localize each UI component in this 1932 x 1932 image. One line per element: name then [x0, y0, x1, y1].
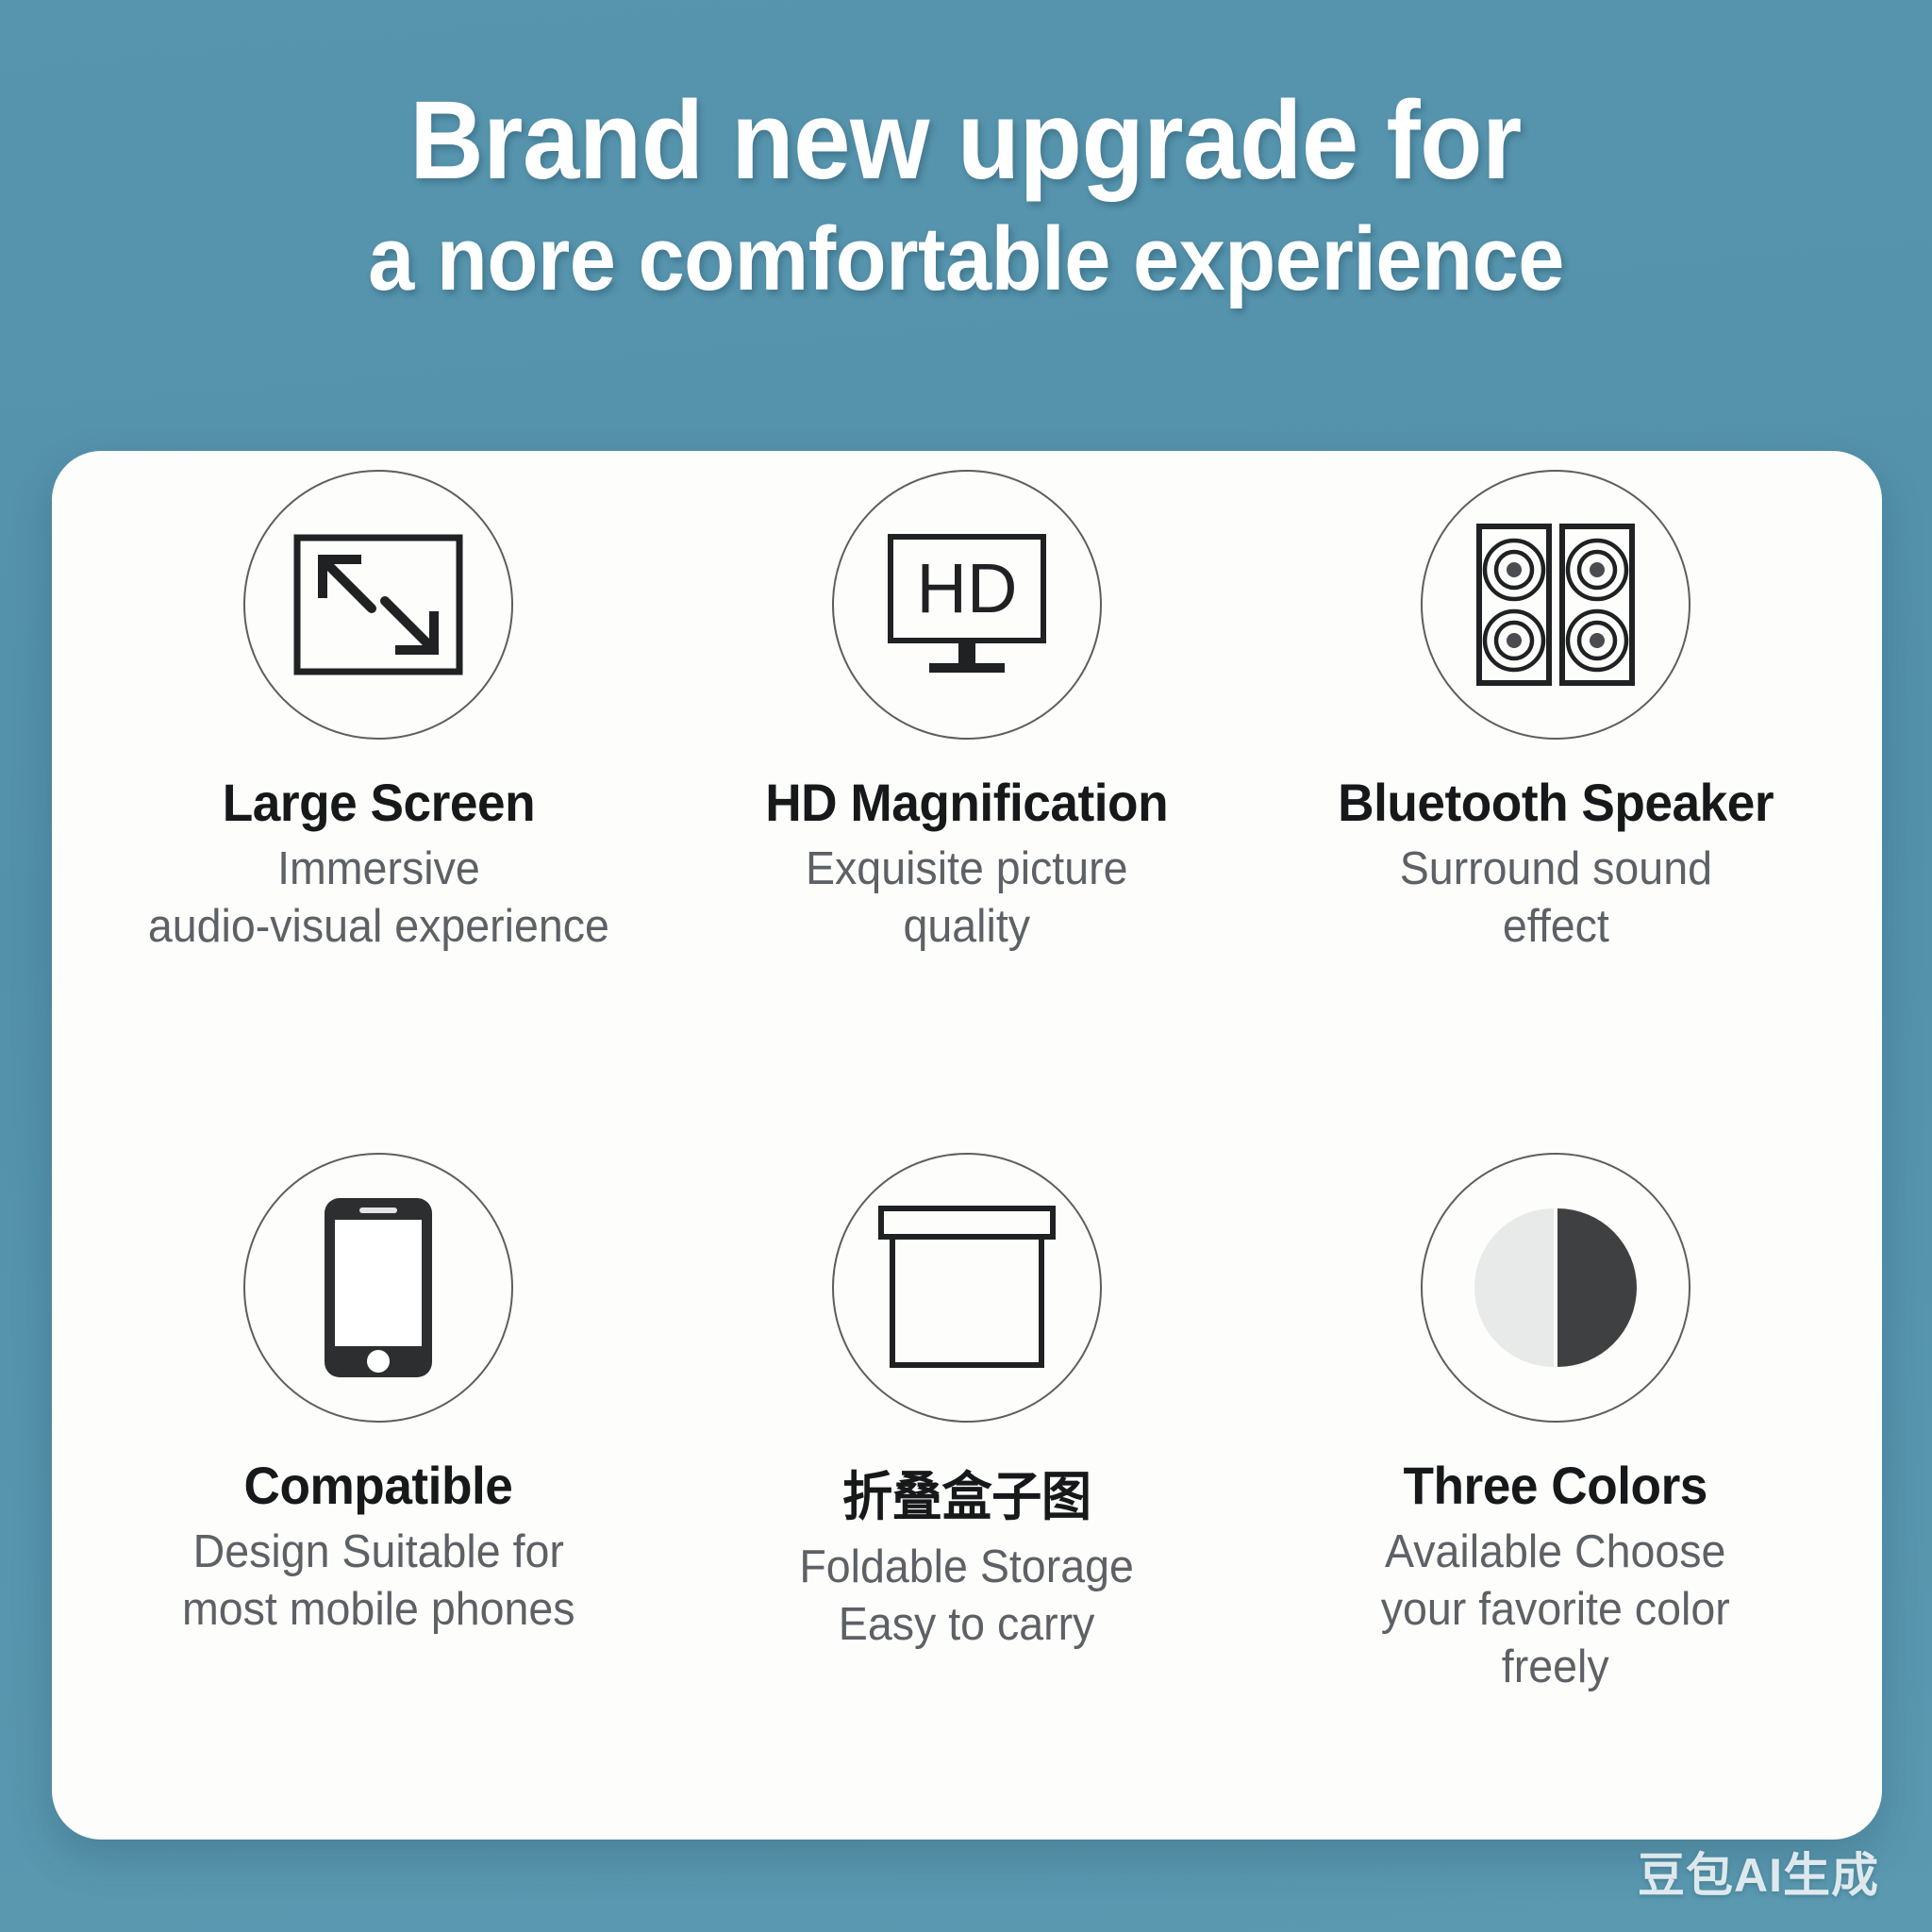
feature-desc-line: Easy to carry [800, 1596, 1135, 1654]
feature-card: Large Screen Immersive audio-visual expe… [52, 451, 1882, 1840]
feature-description: Exquisite picture quality [806, 841, 1128, 956]
feature-large-screen[interactable]: Large Screen Immersive audio-visual expe… [84, 451, 673, 956]
feature-description: Foldable Storage Easy to carry [800, 1539, 1135, 1654]
feature-desc-line: Surround sound [1399, 841, 1711, 898]
feature-desc-line: your favorite color [1381, 1581, 1730, 1639]
feature-desc-line: Design Suitable for [182, 1524, 575, 1581]
screen-resize-icon [243, 470, 513, 740]
feature-description: Design Suitable for most mobile phones [182, 1524, 575, 1639]
feature-title: Compatible [244, 1455, 513, 1516]
hero-header: Brand new upgrade for a nore comfortable… [0, 0, 1932, 451]
smartphone-icon [243, 1153, 513, 1423]
hero-title-line-2: a nore comfortable experience [368, 204, 1564, 315]
feature-grid: Large Screen Immersive audio-visual expe… [84, 451, 1850, 1840]
watermark: 豆包AI生成 [1638, 1838, 1879, 1906]
feature-description: Available Choose your favorite color fre… [1381, 1524, 1730, 1696]
feature-desc-line: Available Choose [1381, 1524, 1730, 1581]
feature-desc-line: freely [1381, 1639, 1730, 1696]
feature-description: Immersive audio-visual experience [147, 841, 608, 956]
feature-compatible[interactable]: Compatible Design Suitable for most mobi… [84, 1145, 673, 1639]
two-tone-circle-icon [1421, 1153, 1690, 1423]
feature-title: Three Colors [1404, 1455, 1707, 1516]
hero-title-line-1: Brand new upgrade for [410, 81, 1523, 200]
hd-label: HD [917, 549, 1018, 627]
feature-title: Bluetooth Speaker [1338, 772, 1774, 833]
feature-desc-line: quality [806, 898, 1128, 956]
bluetooth-speaker-icon [1421, 470, 1690, 740]
feature-hd-magnification[interactable]: HD HD Magnification Exquisite picture qu… [673, 451, 1261, 956]
foldable-box-icon [832, 1153, 1102, 1423]
feature-title: HD Magnification [766, 772, 1169, 833]
feature-desc-line: most mobile phones [182, 1581, 575, 1639]
feature-desc-line: audio-visual experience [147, 898, 608, 956]
feature-bluetooth-speaker[interactable]: Bluetooth Speaker Surround sound effect [1261, 451, 1850, 956]
feature-title: 折叠盒子图 [842, 1455, 1091, 1531]
feature-desc-line: Immersive [147, 841, 608, 898]
hd-monitor-icon: HD [832, 470, 1102, 740]
feature-description: Surround sound effect [1399, 841, 1711, 956]
feature-three-colors[interactable]: Three Colors Available Choose your favor… [1261, 1145, 1850, 1696]
feature-desc-line: Exquisite picture [806, 841, 1128, 898]
feature-title: Large Screen [222, 772, 534, 833]
feature-foldable-storage[interactable]: 折叠盒子图 Foldable Storage Easy to carry [673, 1145, 1261, 1654]
feature-desc-line: effect [1399, 898, 1711, 956]
feature-desc-line: Foldable Storage [800, 1539, 1135, 1596]
